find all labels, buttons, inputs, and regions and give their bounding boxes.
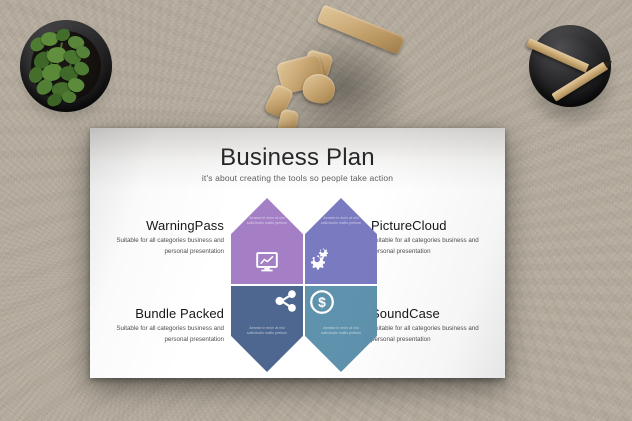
slide-subtitle: it's about creating the tools so people … <box>90 173 505 183</box>
dollar-coin-icon: $ <box>309 289 335 320</box>
mockup-scene: Business Plan it's about creating the to… <box>0 0 632 421</box>
pentagon-soundcase-text: Aenean in enim at nisl sollicitudin moll… <box>319 326 363 337</box>
wooden-mannequin <box>265 2 415 142</box>
feature-title-warningpass: WarningPass <box>104 218 224 233</box>
pentagon-picturecloud-text: Aenean in enim at nisl sollicitudin moll… <box>319 216 363 227</box>
feature-title-soundcase: SoundCase <box>371 306 491 321</box>
slide-title: Business Plan <box>90 144 505 172</box>
pentagon-bundlepacked[interactable]: Aenean in enim at nisl sollicitudin moll… <box>231 286 303 372</box>
feature-body-picturecloud: Suitable for all categories business and… <box>371 236 491 258</box>
pencils-in-bowl <box>519 21 623 121</box>
pentagon-bundlepacked-text: Aenean in enim at nisl sollicitudin moll… <box>245 326 289 337</box>
presentation-slide: Business Plan it's about creating the to… <box>90 128 505 378</box>
feature-body-soundcase: Suitable for all categories business and… <box>371 324 491 346</box>
share-icon <box>274 290 298 317</box>
pentagon-warningpass-text: Aenean in enim at nisl sollicitudin moll… <box>245 216 289 227</box>
feature-body-warningpass: Suitable for all categories business and… <box>104 236 224 258</box>
feature-title-bundlepacked: Bundle Packed <box>104 306 224 321</box>
pentagon-picturecloud[interactable]: Aenean in enim at nisl sollicitudin moll… <box>305 198 377 284</box>
potted-plant <box>14 16 118 120</box>
feature-caption-warningpass: WarningPass Suitable for all categories … <box>104 218 224 258</box>
feature-caption-picturecloud: PictureCloud Suitable for all categories… <box>371 218 491 258</box>
feature-caption-soundcase: SoundCase Suitable for all categories bu… <box>371 306 491 346</box>
pentagon-soundcase[interactable]: Aenean in enim at nisl sollicitudin moll… <box>305 286 377 372</box>
svg-text:$: $ <box>318 294 326 310</box>
gears-icon <box>307 245 335 278</box>
pentagon-cluster: Aenean in enim at nisl sollicitudin moll… <box>231 198 377 370</box>
feature-body-bundlepacked: Suitable for all categories business and… <box>104 324 224 346</box>
feature-caption-bundlepacked: Bundle Packed Suitable for all categorie… <box>104 306 224 346</box>
pentagon-warningpass[interactable]: Aenean in enim at nisl sollicitudin moll… <box>231 198 303 284</box>
feature-title-picturecloud: PictureCloud <box>371 218 491 233</box>
monitor-chart-icon <box>256 252 278 277</box>
